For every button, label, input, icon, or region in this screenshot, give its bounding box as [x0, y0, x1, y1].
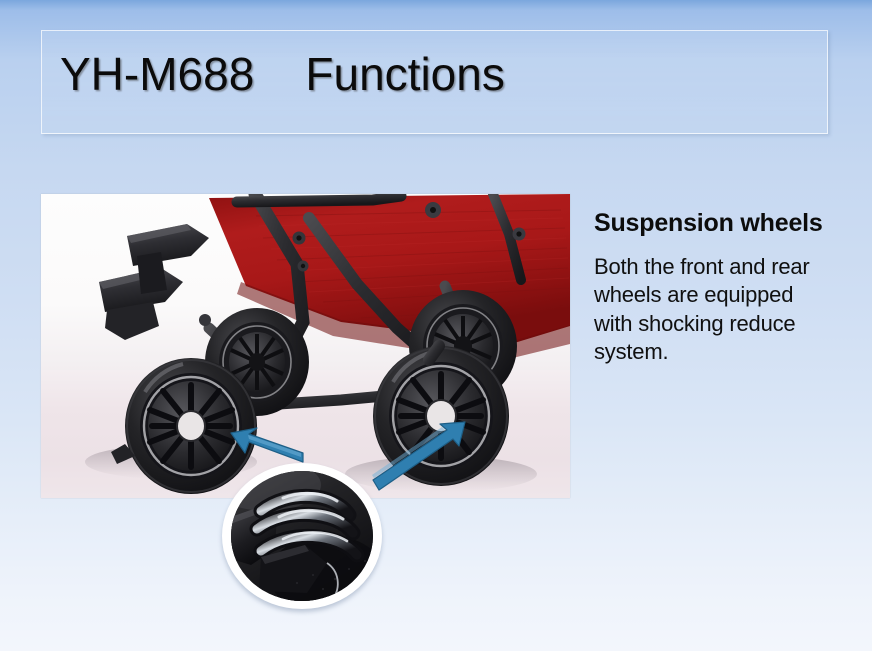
stroller-illustration [41, 194, 570, 498]
suspension-spring-closeup [222, 463, 382, 609]
stroller-wheels-photo [41, 194, 570, 498]
spring-illustration [231, 471, 373, 601]
slide-canvas: YH-M688 Functions [0, 0, 872, 651]
caption-body: Both the front and rear wheels are equip… [594, 253, 830, 367]
page-title: YH-M688 Functions [60, 47, 505, 101]
inset-photo [231, 471, 373, 601]
caption-block: Suspension wheels Both the front and rea… [594, 208, 830, 367]
caption-heading: Suspension wheels [594, 208, 830, 239]
title-box: YH-M688 Functions [41, 30, 828, 134]
